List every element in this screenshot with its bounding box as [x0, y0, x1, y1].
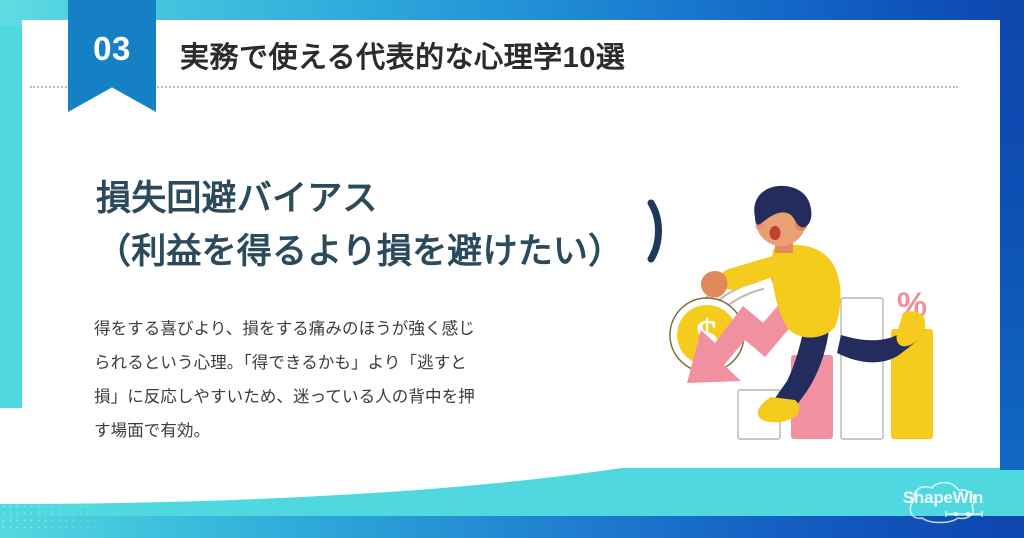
heading-line-1: 損失回避バイアス	[96, 172, 696, 225]
bottom-gradient-strip	[0, 516, 1024, 538]
body-line-3: 損」に反応しやすいため、迷っている人の背中を押	[94, 381, 592, 415]
body-line-4: す場面で有効。	[94, 415, 592, 449]
header-title: 実務で使える代表的な心理学10選	[180, 34, 625, 76]
eye	[762, 214, 767, 219]
right-gradient-bar	[1000, 0, 1024, 470]
motion-arc-icon	[645, 203, 659, 259]
illustration-businessman-bar-chart: $ %	[645, 183, 985, 445]
body-line-1: 得をする喜びより、損をする痛みのほうが強く感じ	[94, 313, 592, 347]
mouth	[770, 226, 781, 240]
section-number: 03	[93, 32, 131, 65]
page-title: 損失回避バイアス （利益を得るより損を避けたい）	[96, 172, 696, 278]
hand	[701, 271, 728, 297]
brand-logo-text: ShapeWin	[890, 488, 996, 508]
body-line-2: られるという心理。「得できるかも」より「逃すと	[94, 347, 592, 381]
body-description: 得をする喜びより、損をする痛みのほうが強く感じ られるという心理。「得できるかも…	[94, 313, 592, 449]
brand-logo: ShapeWin	[890, 482, 996, 524]
slide-root: 03 実務で使える代表的な心理学10選 損失回避バイアス （利益を得るより損を避…	[0, 0, 1024, 538]
heading-line-2: （利益を得るより損を避けたい）	[96, 225, 696, 278]
header-dotted-rule	[30, 86, 958, 90]
bar-3	[841, 298, 883, 439]
